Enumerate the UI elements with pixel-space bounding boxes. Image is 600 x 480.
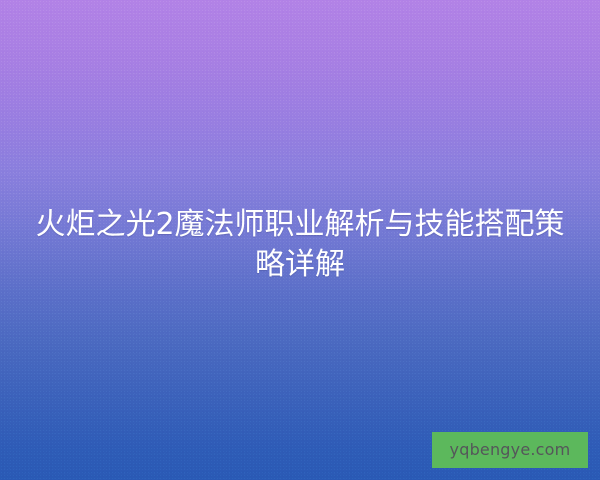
watermark-site-label: yqbengye.com — [450, 442, 571, 458]
page-title: 火炬之光2魔法师职业解析与技能搭配策略详解 — [30, 205, 570, 285]
cover-image: 火炬之光2魔法师职业解析与技能搭配策略详解 yqbengye.com — [0, 0, 600, 480]
title-block: 火炬之光2魔法师职业解析与技能搭配策略详解 — [30, 205, 570, 285]
watermark-badge: yqbengye.com — [432, 432, 588, 468]
